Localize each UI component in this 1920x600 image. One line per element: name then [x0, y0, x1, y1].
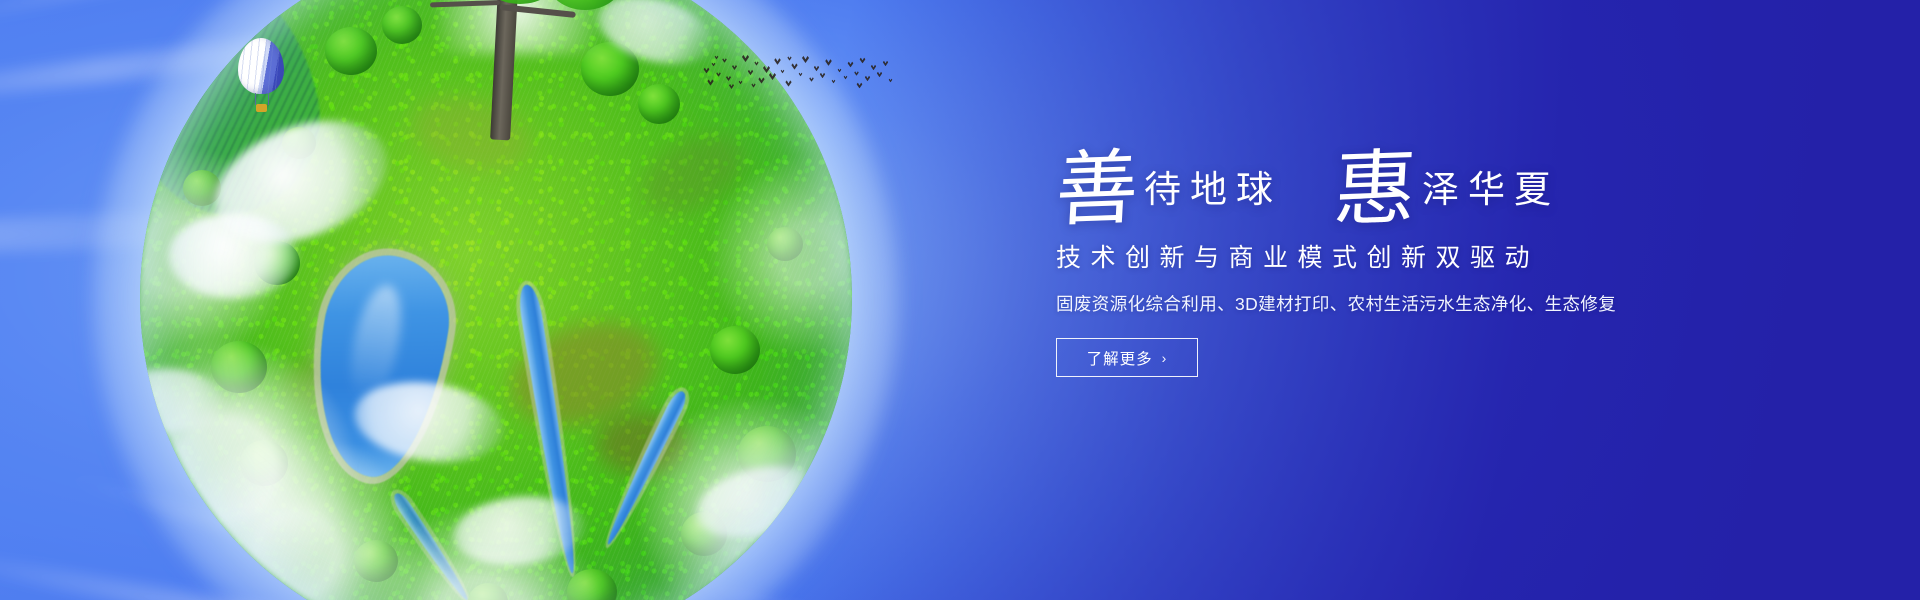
bird-icon [769, 73, 776, 80]
bird-icon [883, 61, 888, 66]
bird-icon [704, 68, 710, 74]
hero-tree [420, 0, 670, 148]
headline-brush-char-2: 惠 [1332, 150, 1418, 230]
bird-icon [754, 61, 758, 65]
bird-icon [748, 70, 753, 75]
bird-icon [781, 70, 785, 74]
bird-icon [889, 79, 893, 83]
learn-more-label: 了解更多 [1087, 347, 1153, 369]
bird-icon [814, 66, 819, 71]
bird-icon [758, 77, 764, 83]
bird-icon [787, 56, 791, 60]
bird-icon [785, 80, 791, 86]
bird-icon [739, 81, 743, 85]
bird-icon [838, 69, 842, 73]
bird-icon [844, 76, 848, 80]
hero-banner: 善 待地球 惠 泽华夏 技术创新与商业模式创新双驱动 固废资源化综合利用、3D建… [0, 0, 1920, 600]
bird-icon [857, 83, 863, 89]
bird-icon [802, 56, 809, 63]
bird-icon [799, 73, 803, 77]
balloon-envelope [238, 38, 284, 94]
bird-icon [742, 55, 749, 62]
learn-more-button[interactable]: 了解更多 › [1056, 338, 1198, 377]
bird-icon [729, 84, 734, 89]
bird-icon [774, 58, 781, 65]
hot-air-balloon-icon [238, 38, 284, 116]
bird-icon [860, 58, 866, 64]
bird-icon [809, 77, 814, 82]
bird-icon [791, 63, 797, 69]
chevron-right-icon: › [1162, 351, 1168, 365]
bird-icon [877, 72, 882, 77]
bird-icon [707, 79, 713, 85]
bird-icon [732, 65, 737, 70]
bird-icon [715, 56, 719, 60]
headline: 善 待地球 惠 泽华夏 [1056, 126, 1696, 222]
bird-icon [751, 83, 755, 87]
bird-icon [848, 62, 854, 68]
bird-icon [722, 58, 727, 63]
bird-icon [716, 72, 721, 77]
headline-plain-text-1: 待地球 [1144, 171, 1282, 208]
banner-subtitle: 技术创新与商业模式创新双驱动 [1056, 238, 1696, 274]
bird-icon [825, 59, 832, 66]
bird-flock [702, 50, 892, 96]
banner-content: 善 待地球 惠 泽华夏 技术创新与商业模式创新双驱动 固废资源化综合利用、3D建… [1056, 126, 1696, 377]
bird-icon [871, 65, 876, 70]
bird-icon [854, 71, 859, 76]
bird-icon [865, 76, 870, 81]
balloon-basket [256, 104, 267, 112]
headline-plain-text-2: 泽华夏 [1422, 171, 1560, 208]
banner-description: 固废资源化综合利用、3D建材打印、农村生活污水生态净化、生态修复 [1056, 291, 1696, 316]
bird-icon [832, 80, 836, 84]
headline-brush-char-1: 善 [1054, 150, 1140, 230]
bird-icon [820, 73, 825, 78]
bird-icon [763, 66, 770, 73]
bird-icon [726, 76, 731, 81]
bird-icon [712, 63, 716, 67]
